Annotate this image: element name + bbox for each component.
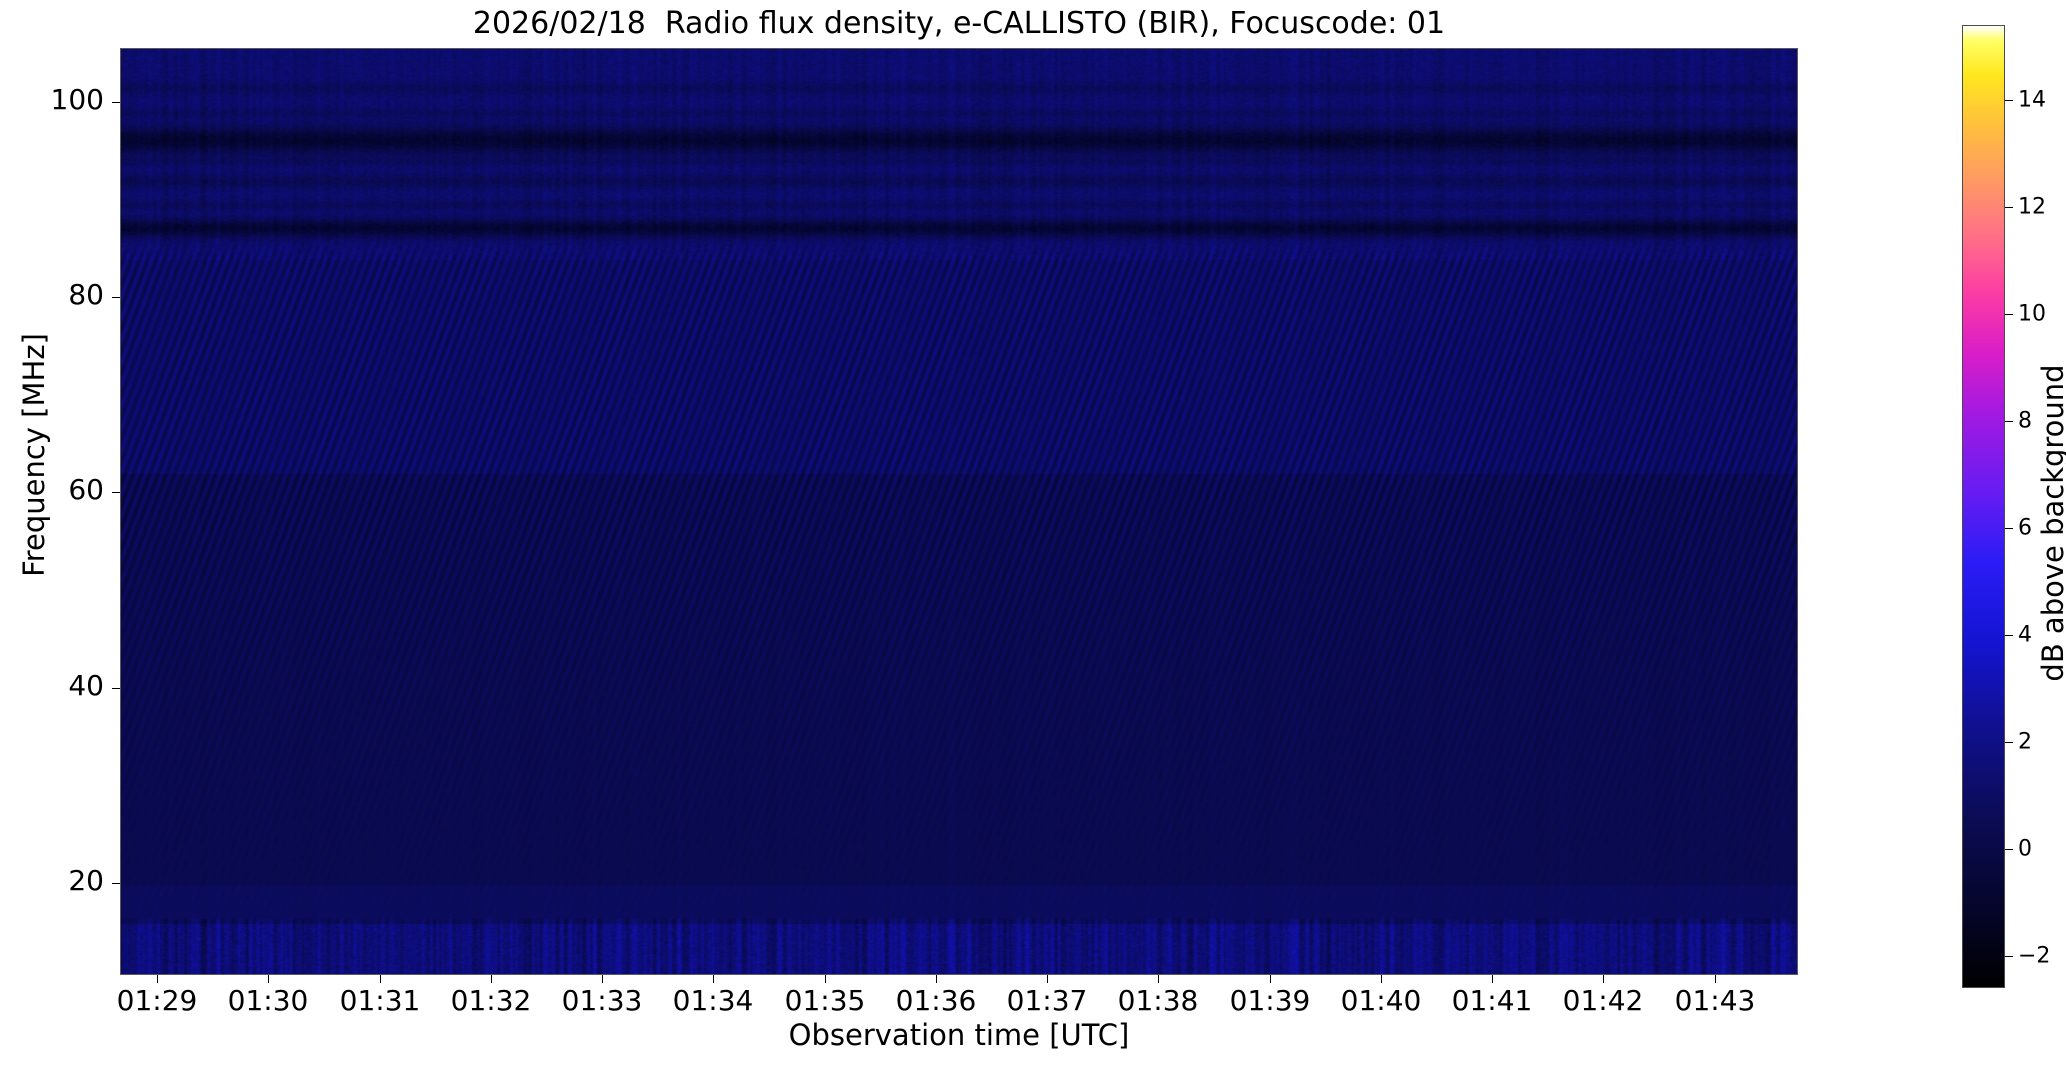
x-tick-label: 01:38 bbox=[1118, 984, 1199, 1017]
x-tick-label: 01:35 bbox=[785, 984, 866, 1017]
x-tick-mark bbox=[380, 975, 381, 983]
x-tick-label: 01:34 bbox=[673, 984, 754, 1017]
colorbar-tick-mark bbox=[2005, 742, 2013, 743]
colorbar-tick-mark bbox=[2005, 528, 2013, 529]
colorbar-label: dB above background bbox=[2036, 313, 2066, 733]
x-tick-mark bbox=[1381, 975, 1382, 983]
x-tick-mark bbox=[491, 975, 492, 983]
x-tick-mark bbox=[825, 975, 826, 983]
x-tick-label: 01:31 bbox=[340, 984, 421, 1017]
x-tick-label: 01:32 bbox=[451, 984, 532, 1017]
x-tick-mark bbox=[713, 975, 714, 983]
y-tick-mark bbox=[112, 688, 120, 689]
colorbar-tick-mark bbox=[2005, 100, 2013, 101]
colorbar-tick-label: 0 bbox=[2018, 837, 2032, 862]
x-tick-mark bbox=[602, 975, 603, 983]
x-tick-label: 01:29 bbox=[117, 984, 198, 1017]
colorbar-tick-label: 4 bbox=[2018, 623, 2032, 648]
y-tick-mark bbox=[112, 102, 120, 103]
x-tick-label: 01:39 bbox=[1230, 984, 1311, 1017]
y-tick-label: 100 bbox=[0, 83, 104, 116]
x-tick-mark bbox=[1492, 975, 1493, 983]
colorbar-tick-label: 12 bbox=[2018, 195, 2046, 220]
y-tick-mark bbox=[112, 492, 120, 493]
x-tick-mark bbox=[157, 975, 158, 983]
x-tick-mark bbox=[1603, 975, 1604, 983]
y-tick-mark bbox=[112, 297, 120, 298]
x-tick-mark bbox=[936, 975, 937, 983]
colorbar-tick-label: 8 bbox=[2018, 409, 2032, 434]
x-tick-mark bbox=[1047, 975, 1048, 983]
colorbar-tick-mark bbox=[2005, 421, 2013, 422]
y-tick-label: 80 bbox=[0, 278, 104, 311]
x-tick-mark bbox=[1270, 975, 1271, 983]
y-tick-label: 40 bbox=[0, 669, 104, 702]
colorbar-tick-mark bbox=[2005, 207, 2013, 208]
x-tick-label: 01:43 bbox=[1675, 984, 1756, 1017]
y-tick-label: 20 bbox=[0, 864, 104, 897]
x-axis-label: Observation time [UTC] bbox=[120, 1018, 1798, 1052]
x-tick-label: 01:37 bbox=[1007, 984, 1088, 1017]
colorbar-tick-label: −2 bbox=[2018, 944, 2050, 969]
x-tick-mark bbox=[268, 975, 269, 983]
x-tick-label: 01:41 bbox=[1452, 984, 1533, 1017]
colorbar-tick-mark bbox=[2005, 635, 2013, 636]
colorbar-tick-mark bbox=[2005, 956, 2013, 957]
x-tick-label: 01:33 bbox=[562, 984, 643, 1017]
colorbar bbox=[1962, 25, 2005, 988]
colorbar-tick-label: 2 bbox=[2018, 730, 2032, 755]
x-tick-label: 01:36 bbox=[896, 984, 977, 1017]
x-tick-label: 01:42 bbox=[1563, 984, 1644, 1017]
spectrogram-figure: 2026/02/18 Radio flux density, e-CALLIST… bbox=[0, 0, 2066, 1067]
spectrogram-image bbox=[121, 49, 1798, 975]
y-tick-label: 60 bbox=[0, 473, 104, 506]
colorbar-tick-label: 14 bbox=[2018, 88, 2046, 113]
page-title: 2026/02/18 Radio flux density, e-CALLIST… bbox=[120, 2, 1798, 46]
colorbar-gradient bbox=[1963, 26, 2004, 987]
x-tick-label: 01:40 bbox=[1341, 984, 1422, 1017]
x-tick-mark bbox=[1158, 975, 1159, 983]
colorbar-tick-mark bbox=[2005, 314, 2013, 315]
colorbar-tick-label: 6 bbox=[2018, 516, 2032, 541]
y-tick-mark bbox=[112, 883, 120, 884]
spectrogram-plot-area bbox=[120, 48, 1798, 975]
colorbar-tick-mark bbox=[2005, 849, 2013, 850]
x-tick-mark bbox=[1715, 975, 1716, 983]
x-tick-label: 01:30 bbox=[228, 984, 309, 1017]
